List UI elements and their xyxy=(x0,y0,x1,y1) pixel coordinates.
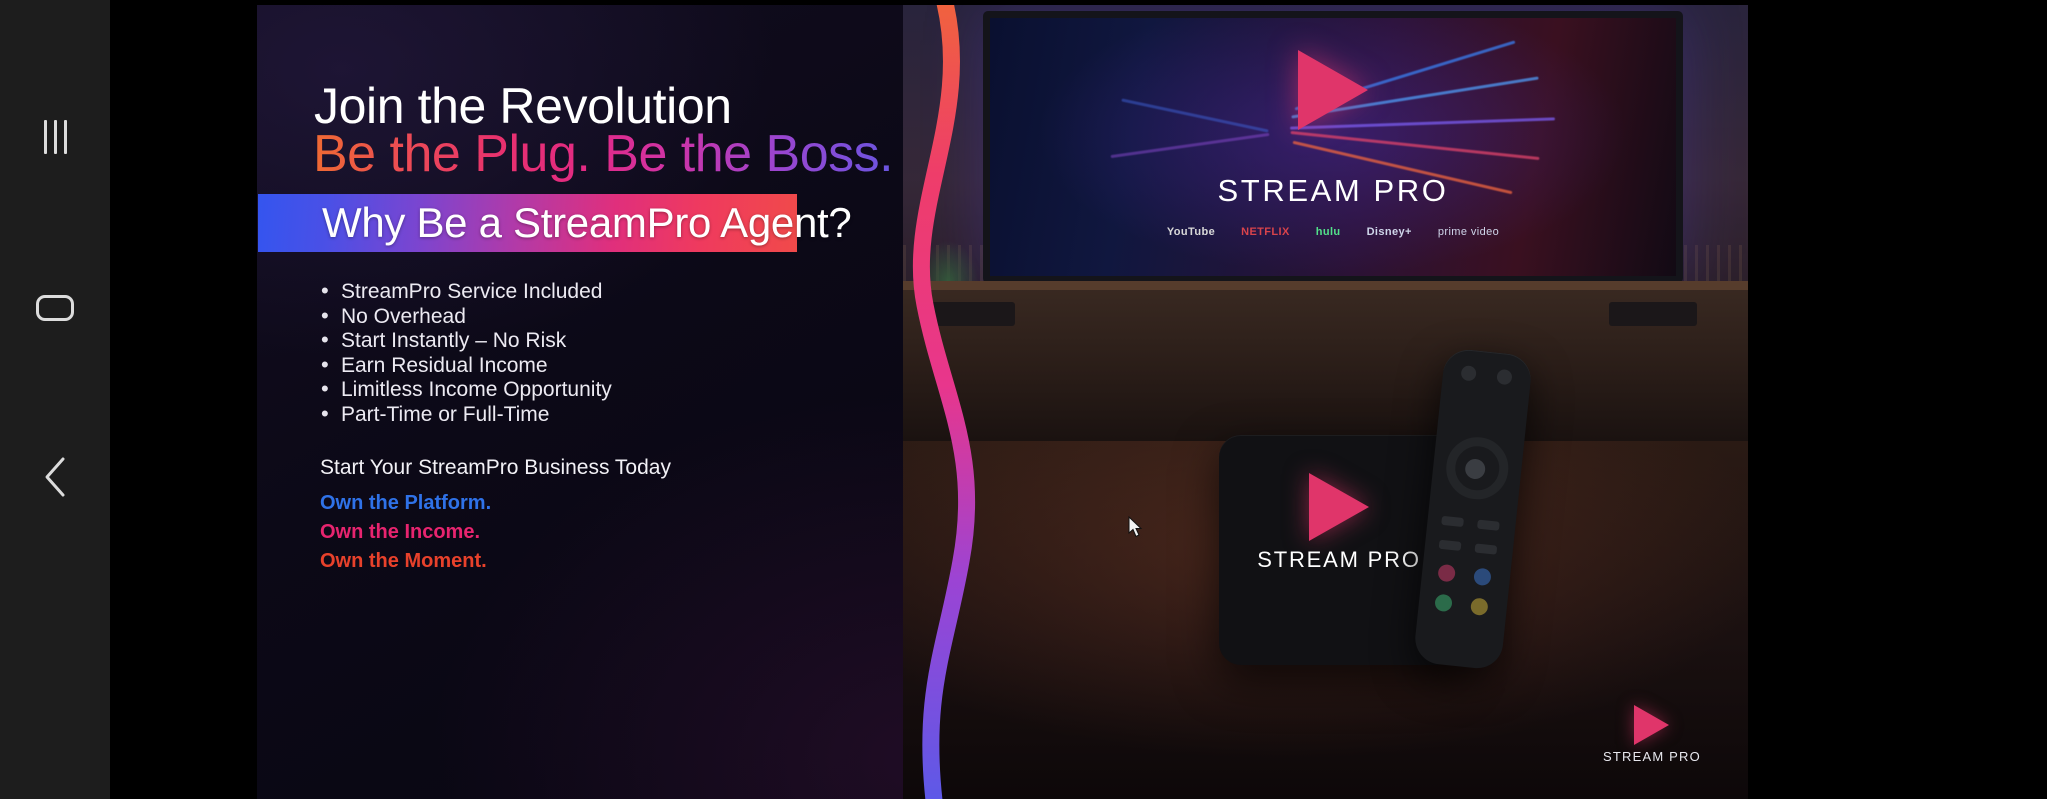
remote-menu-key xyxy=(1439,540,1462,551)
slide-text-panel: Join the Revolution Be the Plug. Be the … xyxy=(257,5,957,799)
remote-home-key xyxy=(1477,520,1500,531)
youtube-logo: YouTube xyxy=(1167,226,1215,238)
recents-button[interactable] xyxy=(0,102,110,172)
recents-icon xyxy=(44,120,67,154)
watermark-text: STREAM PRO xyxy=(1603,749,1701,764)
speaker-right xyxy=(1609,302,1697,326)
remote-color-key-blue xyxy=(1473,568,1492,587)
screen-root: Join the Revolution Be the Plug. Be the … xyxy=(0,0,2047,799)
remote-mic-key xyxy=(1496,369,1512,385)
chevron-left-icon xyxy=(42,456,68,503)
letterbox-right xyxy=(1748,0,2047,799)
list-item: Earn Residual Income xyxy=(315,354,612,379)
streampro-watermark: STREAM PRO xyxy=(1603,705,1701,764)
home-button[interactable] xyxy=(0,273,110,343)
list-item: Part-Time or Full-Time xyxy=(315,403,612,428)
remote-rewind-key xyxy=(1474,543,1497,554)
cta-line-platform: Own the Platform. xyxy=(320,491,671,516)
play-triangle-icon xyxy=(1634,705,1669,745)
television: STREAM PRO YouTube NETFLIX hulu Disney+ … xyxy=(983,11,1683,283)
cta-block: Start Your StreamPro Business Today Own … xyxy=(320,455,671,574)
letterbox-left xyxy=(110,0,257,799)
list-item: Start Instantly – No Risk xyxy=(315,329,612,354)
list-item: StreamPro Service Included xyxy=(315,280,612,305)
remote-power-key xyxy=(1460,365,1476,381)
android-navigation-bar xyxy=(0,0,110,799)
slide-banner-title: Why Be a StreamPro Agent? xyxy=(322,199,851,247)
primevideo-logo: prime video xyxy=(1438,226,1499,238)
netflix-logo: NETFLIX xyxy=(1241,226,1290,238)
remote-color-key-red xyxy=(1437,564,1456,583)
streampro-play-logo xyxy=(1298,50,1368,130)
remote-color-key-green xyxy=(1434,594,1453,613)
home-icon xyxy=(36,295,74,321)
slide-tagline: Be the Plug. Be the Boss. xyxy=(313,124,893,184)
back-button[interactable] xyxy=(0,444,110,514)
benefits-list: StreamPro Service Included No Overhead S… xyxy=(315,280,612,428)
disneyplus-logo: Disney+ xyxy=(1367,226,1412,238)
cta-line-moment: Own the Moment. xyxy=(320,549,671,574)
console-edge xyxy=(903,281,1748,290)
promo-slide-image[interactable]: Join the Revolution Be the Plug. Be the … xyxy=(257,5,1748,799)
remote-color-key-yellow xyxy=(1470,597,1489,616)
tv-brand-text: STREAM PRO xyxy=(1218,173,1449,209)
streaming-service-logos: YouTube NETFLIX hulu Disney+ prime video xyxy=(1167,226,1499,238)
cta-lead-text: Start Your StreamPro Business Today xyxy=(320,455,671,480)
mouse-cursor xyxy=(1128,516,1146,545)
list-item: Limitless Income Opportunity xyxy=(315,378,612,403)
speaker-left xyxy=(927,302,1015,326)
hulu-logo: hulu xyxy=(1316,226,1341,238)
remote-back-key xyxy=(1441,516,1464,527)
slide-banner: Why Be a StreamPro Agent? xyxy=(258,194,797,252)
slide-photo-panel: STREAM PRO YouTube NETFLIX hulu Disney+ … xyxy=(903,5,1748,799)
list-item: No Overhead xyxy=(315,305,612,330)
box-brand-text: STREAM PRO xyxy=(1257,547,1420,573)
play-triangle-icon xyxy=(1298,50,1368,130)
play-triangle-icon xyxy=(1309,473,1369,541)
cta-line-income: Own the Income. xyxy=(320,520,671,545)
